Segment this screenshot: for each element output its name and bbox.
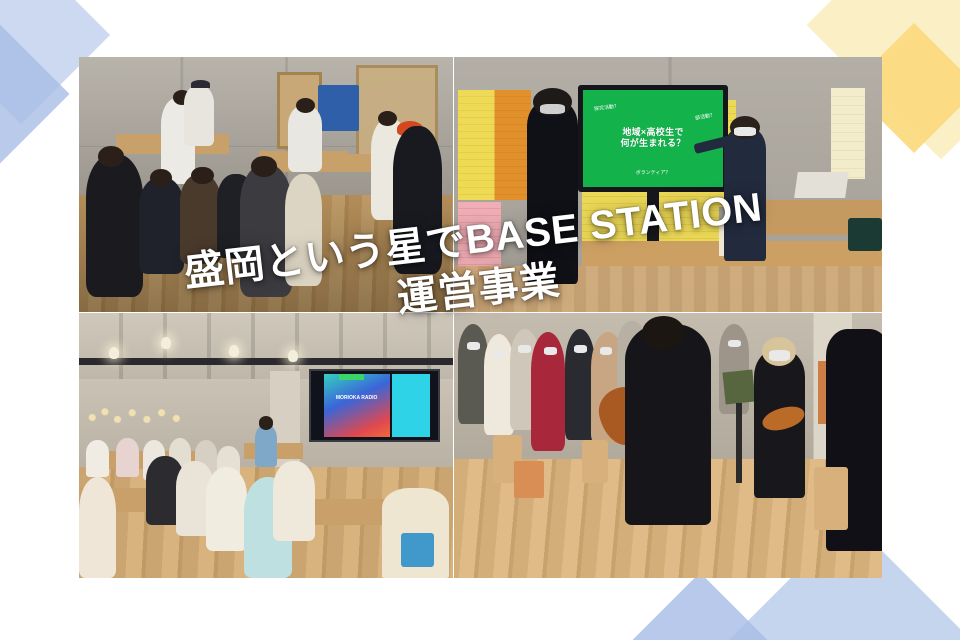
poster-right <box>831 88 865 180</box>
photo-concert <box>454 313 882 578</box>
face-mask-icon <box>769 350 790 361</box>
diamond-bottom-right-blue <box>626 572 773 640</box>
person-in-black-right <box>393 126 442 274</box>
face-mask-icon <box>544 347 557 355</box>
photo-presentation: 探究活動？ 部活動？ 地域×高校生で 何が生まれる？ ボランティア？ <box>454 57 882 312</box>
person-brown-jacket <box>180 174 221 263</box>
photo-workshop <box>79 57 453 312</box>
display-monitor: 探究活動？ 部活動？ 地域×高校生で 何が生まれる？ ボランティア？ <box>578 85 728 192</box>
person-student-presenter <box>724 128 767 261</box>
person-foreground-left <box>86 154 142 297</box>
face-mask-icon <box>467 342 480 350</box>
person-mid-row <box>273 461 314 541</box>
face-mask-icon <box>574 345 587 353</box>
screen-main-line1: 地域×高校生で <box>583 127 723 138</box>
spotlight <box>161 337 171 349</box>
person-back-row <box>86 440 108 477</box>
poster-title: MORIOKA RADIO <box>326 395 387 402</box>
music-stand-pole <box>736 403 741 483</box>
person-at-table <box>288 105 322 171</box>
person-with-cap <box>184 85 214 146</box>
photo-collage: 探究活動？ 部活動？ 地域×高校生で 何が生まれる？ ボランティア？ <box>79 57 881 577</box>
poster-green-band <box>339 374 364 380</box>
face-mask-icon <box>540 104 566 114</box>
person-head <box>378 111 397 126</box>
person-head <box>296 98 315 113</box>
spotlight <box>229 345 239 357</box>
stool <box>814 467 848 531</box>
screen-tag-bottom: ボランティア？ <box>583 169 723 176</box>
face-mask-icon <box>728 340 741 348</box>
person-head <box>191 167 213 185</box>
photo-presentation-scene: 探究活動？ 部活動？ 地域×高校生で 何が生まれる？ ボランティア？ <box>454 57 882 312</box>
person-teacher <box>527 100 578 284</box>
person-mid-row <box>206 467 247 552</box>
photo-seminar-scene: MORIOKA RADIO <box>79 313 453 578</box>
ceiling-beam <box>79 358 453 365</box>
photo-workshop-scene <box>79 57 453 312</box>
tshirt-logo-icon <box>401 533 435 567</box>
person-back-row <box>116 438 138 478</box>
person-head <box>259 416 274 429</box>
screen-tag-top-left: 探究活動？ <box>594 102 620 112</box>
spotlight <box>288 350 298 362</box>
tote-bag <box>285 174 322 286</box>
person-head <box>98 146 124 166</box>
speaker-box <box>848 218 882 251</box>
face-mask-icon <box>734 127 755 136</box>
person-crouching <box>139 177 184 274</box>
blue-cart <box>318 85 359 131</box>
diamond-top-left-blue <box>0 20 70 167</box>
slide-root: 探究活動？ 部活動？ 地域×高校生で 何が生まれる？ ボランティア？ <box>0 0 960 640</box>
person-head <box>251 156 277 176</box>
presentation-screen: 探究活動？ 部活動？ 地域×高校生で 何が生まれる？ ボランティア？ <box>583 90 723 187</box>
person-front-left <box>79 477 116 578</box>
laptop <box>795 172 850 198</box>
wood-floor <box>454 266 882 312</box>
screen-tag-top-right: 部活動？ <box>694 112 715 122</box>
stool <box>582 440 608 482</box>
sticky-notes-left <box>458 90 531 200</box>
person-presenter <box>255 424 277 466</box>
poster-gradient <box>324 374 390 437</box>
floor-bucket <box>514 461 544 498</box>
face-mask-icon <box>493 350 506 358</box>
photo-concert-scene <box>454 313 882 578</box>
face-mask-icon <box>518 345 531 353</box>
projector-screen: MORIOKA RADIO <box>311 371 438 440</box>
photo-seminar: MORIOKA RADIO <box>79 313 453 578</box>
spotlight <box>109 347 119 359</box>
music-stand <box>722 370 755 405</box>
person-head <box>642 316 685 350</box>
performer-cellist <box>625 324 711 525</box>
string-lights <box>86 408 191 427</box>
face-mask-icon <box>600 347 613 355</box>
cap-icon <box>191 80 210 88</box>
poster-cyan-panel <box>392 374 430 437</box>
